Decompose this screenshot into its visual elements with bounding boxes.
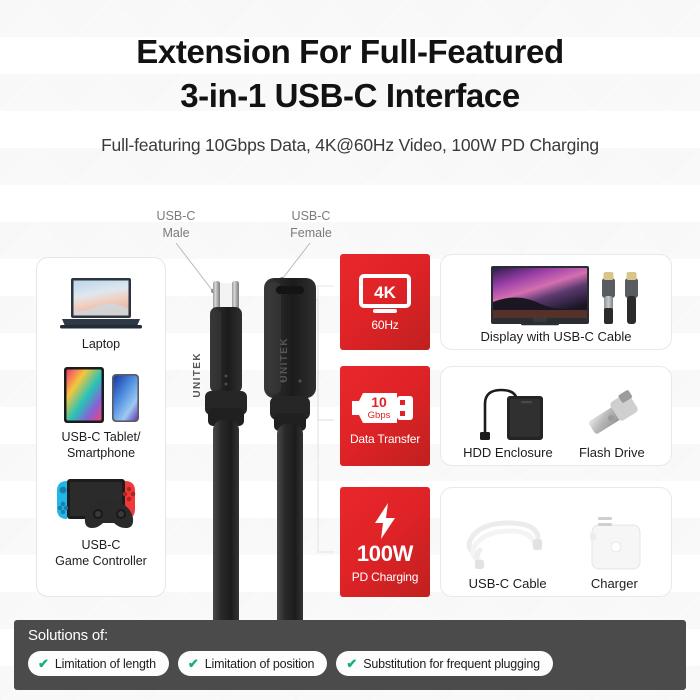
cable-brand-female: UNITEK (279, 337, 290, 383)
device-label-controller-line2: Game Controller (55, 554, 147, 570)
solution-pill-position: ✔ Limitation of position (178, 651, 327, 676)
callout-female-line1: USB-C (262, 208, 360, 225)
result-label-usb-c-cable: USB-C Cable (469, 576, 547, 591)
infographic-page: Extension For Full-Featured 3-in-1 USB-C… (0, 0, 700, 700)
feature-badge-data-label: Data Transfer (350, 432, 420, 446)
lightning-bolt-icon (370, 501, 400, 541)
feature-badge-video: 4K 60Hz (340, 254, 430, 350)
device-label-controller-line1: USB-C (55, 538, 147, 554)
feature-badge-video-label: 60Hz (371, 318, 398, 332)
flash-drive-icon (575, 378, 649, 442)
result-item-charger: Charger (574, 503, 654, 591)
feature-badge-power-value: 100W (357, 541, 413, 567)
page-subtitle: Full-featuring 10Gbps Data, 4K@60Hz Vide… (0, 135, 700, 156)
hdd-enclosure-icon (465, 378, 551, 442)
result-label-display: Display with USB-C Cable (481, 329, 632, 344)
device-item-laptop: Laptop (37, 266, 165, 353)
solutions-bar: Solutions of: ✔ Limitation of length ✔ L… (14, 620, 686, 690)
game-controller-icon (51, 467, 151, 533)
result-item-display: Display with USB-C Cable (463, 264, 649, 344)
header: Extension For Full-Featured 3-in-1 USB-C… (0, 30, 700, 156)
cable-brand-male: UNITEK (192, 352, 203, 398)
device-label-tablet-line2: Smartphone (62, 446, 141, 462)
callout-usb-c-female: USB-C Female (262, 208, 360, 241)
device-label-game-controller: USB-C Game Controller (55, 538, 147, 570)
tablet-phone-icon (56, 359, 146, 425)
callout-male-line1: USB-C (128, 208, 224, 225)
device-label-laptop: Laptop (82, 337, 120, 353)
device-label-tablet-line1: USB-C Tablet/ (62, 430, 141, 446)
result-label-charger: Charger (591, 576, 638, 591)
callout-female-line2: Female (262, 225, 360, 242)
result-card-storage: HDD Enclosure (440, 366, 672, 466)
solution-pill-length: ✔ Limitation of length (28, 651, 169, 676)
result-card-power: USB-C Cable Charger (440, 487, 672, 597)
device-item-game-controller: USB-C Game Controller (37, 467, 165, 570)
feature-badge-power-label: PD Charging (352, 570, 419, 584)
result-label-hdd: HDD Enclosure (463, 445, 553, 460)
solution-label-position: Limitation of position (205, 657, 315, 671)
usb-c-cable-icon (458, 503, 558, 573)
solution-label-length: Limitation of length (55, 657, 156, 671)
svg-text:4K: 4K (374, 283, 396, 302)
solution-label-plugging: Substitution for frequent plugging (363, 657, 540, 671)
feature-badge-power: 100W PD Charging (340, 487, 430, 597)
monitor-icon (463, 264, 649, 326)
page-title-line2: 3-in-1 USB-C Interface (0, 74, 700, 118)
check-icon: ✔ (188, 657, 199, 670)
device-label-tablet-smartphone: USB-C Tablet/ Smartphone (62, 430, 141, 462)
result-item-hdd-enclosure: HDD Enclosure (463, 378, 553, 460)
usb-plug-icon: 10 Gbps (349, 387, 421, 429)
solutions-title: Solutions of: (28, 627, 674, 644)
result-item-flash-drive: Flash Drive (575, 378, 649, 460)
source-devices-card: Laptop (36, 257, 166, 597)
result-label-flash-drive: Flash Drive (579, 445, 645, 460)
svg-text:Gbps: Gbps (368, 410, 391, 421)
monitor-4k-icon: 4K (358, 273, 412, 315)
check-icon: ✔ (346, 657, 357, 670)
callout-male-line2: Male (128, 225, 224, 242)
callout-usb-c-male: USB-C Male (128, 208, 224, 241)
device-item-tablet-smartphone: USB-C Tablet/ Smartphone (37, 359, 165, 462)
charger-icon (574, 503, 654, 573)
result-card-display: Display with USB-C Cable (440, 254, 672, 350)
check-icon: ✔ (38, 657, 49, 670)
result-item-usb-c-cable: USB-C Cable (458, 503, 558, 591)
solutions-pill-row: ✔ Limitation of length ✔ Limitation of p… (28, 651, 674, 676)
laptop-icon (58, 266, 144, 332)
page-title-line1: Extension For Full-Featured (0, 30, 700, 74)
svg-text:10: 10 (371, 394, 387, 410)
feature-badge-data: 10 Gbps Data Transfer (340, 366, 430, 466)
solution-pill-plugging: ✔ Substitution for frequent plugging (336, 651, 553, 676)
